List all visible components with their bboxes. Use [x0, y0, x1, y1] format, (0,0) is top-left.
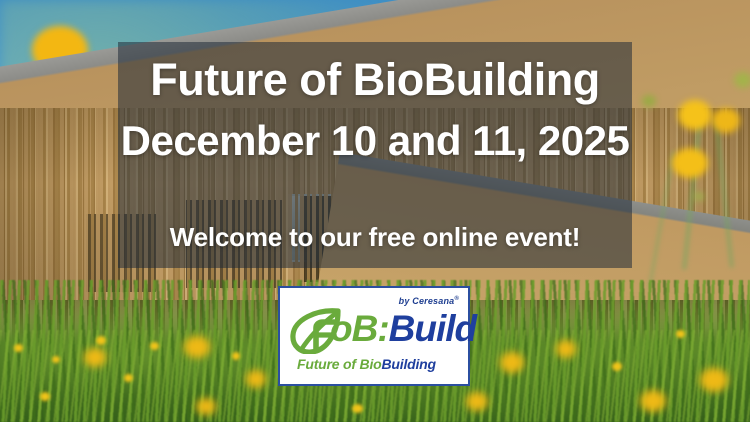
meadow-flower-icon — [184, 336, 210, 358]
meadow-flower-icon — [84, 348, 106, 367]
wordmark-colon: : — [377, 308, 388, 349]
meadow-flower-icon — [246, 370, 266, 388]
meadow-flower-icon — [150, 342, 159, 350]
byline-text: by Ceresana — [399, 296, 455, 306]
logo-wordmark: oB:Build — [290, 308, 466, 354]
event-date: December 10 and 11, 2025 — [0, 116, 750, 166]
tagline-green: Future of Bio — [297, 356, 382, 372]
meadow-flower-icon — [640, 390, 666, 412]
meadow-flower-icon — [96, 336, 106, 345]
banner-stage: Future of BioBuilding December 10 and 11… — [0, 0, 750, 422]
wordmark-part2: Build — [389, 308, 476, 349]
meadow-flower-icon — [676, 330, 685, 338]
page-title: Future of BioBuilding — [0, 54, 750, 106]
meadow-flower-icon — [500, 352, 524, 373]
meadow-flower-icon — [232, 352, 240, 360]
meadow-flower-icon — [196, 398, 216, 415]
meadow-flower-icon — [14, 344, 23, 352]
wordmark-text: oB:Build — [330, 306, 476, 352]
meadow-flower-icon — [556, 340, 576, 358]
meadow-flower-icon — [352, 404, 363, 413]
welcome-message: Welcome to our free online event! — [0, 220, 750, 254]
meadow-flower-icon — [52, 356, 60, 363]
meadow-flower-icon — [466, 392, 488, 411]
byline: by Ceresana® — [399, 296, 459, 306]
logo-card: by Ceresana® oB:Build Future of BioBuild… — [278, 286, 470, 386]
meadow-flower-icon — [700, 368, 728, 392]
wordmark-part1: oB — [330, 308, 377, 349]
flower-bud-icon — [694, 192, 704, 201]
meadow-flower-icon — [40, 392, 50, 401]
logo-tagline: Future of BioBuilding — [297, 356, 436, 372]
registered-mark-icon: ® — [454, 296, 459, 302]
tagline-blue: Building — [382, 356, 436, 372]
meadow-flower-icon — [612, 362, 622, 371]
meadow-flower-icon — [124, 374, 133, 382]
